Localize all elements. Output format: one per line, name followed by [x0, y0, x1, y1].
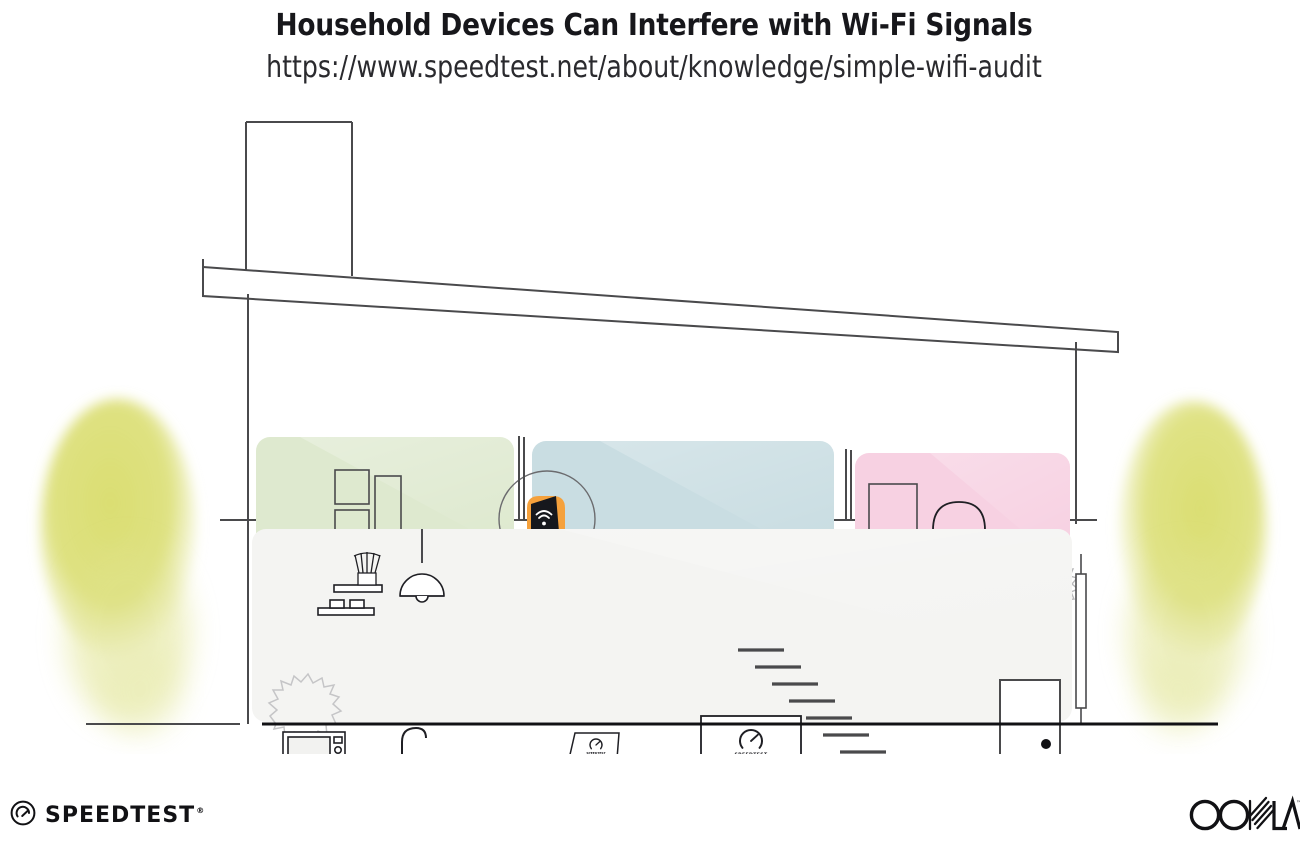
- speedometer-icon: [10, 800, 36, 831]
- ookla-trademark: ™: [1296, 800, 1300, 807]
- speedtest-wordmark: SPEEDTEST®: [45, 805, 204, 827]
- page-title: Household Devices Can Interfere with Wi-…: [78, 8, 1229, 44]
- room-lower-level: [252, 529, 1072, 722]
- tv-screen-label: SPEEDTEST: [734, 752, 768, 754]
- speedtest-logo: SPEEDTEST®: [10, 800, 204, 831]
- foliage-left: [40, 399, 196, 737]
- house-illustration: SPEEDTEST: [0, 104, 1308, 754]
- laptop-screen-label: SPEEDTEST: [586, 751, 606, 754]
- ookla-wordmark: OOKLA: [1188, 793, 1243, 797]
- speedtest-trademark: ®: [196, 806, 204, 815]
- microwave: [283, 732, 345, 754]
- footer: SPEEDTEST® ™ OOKLA: [0, 771, 1308, 861]
- chimney: [246, 122, 352, 276]
- infographic-canvas: Household Devices Can Interfere with Wi-…: [0, 0, 1308, 861]
- ookla-logo: ™ OOKLA: [1188, 793, 1300, 833]
- television: [701, 716, 801, 754]
- source-url: https://www.speedtest.net/about/knowledg…: [105, 50, 1204, 86]
- header: Household Devices Can Interfere with Wi-…: [0, 0, 1308, 86]
- roof-slab: [203, 267, 1118, 352]
- window-panel: [1076, 554, 1086, 724]
- foliage-right: [1119, 401, 1267, 736]
- front-door: [1000, 680, 1060, 754]
